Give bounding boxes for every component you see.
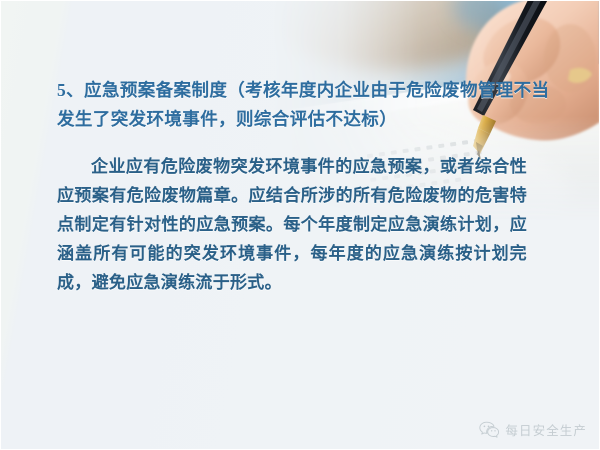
body-paragraph: 企业应有危险废物突发环境事件的应急预案，或者综合性应预案有危险废物篇章。应结合所… (57, 152, 527, 297)
slide-canvas: 5、应急预案备案制度（考核年度内企业由于危险废物管理不当发生了突发环境事件，则综… (0, 0, 600, 450)
wechat-icon (479, 421, 499, 438)
watermark-label: 每日安全生产 (505, 420, 587, 439)
watermark: 每日安全生产 (479, 420, 587, 439)
slide-text-layer: 5、应急预案备案制度（考核年度内企业由于危险废物管理不当发生了突发环境事件，则综… (0, 0, 600, 450)
page-title: 5、应急预案备案制度（考核年度内企业由于危险废物管理不当发生了突发环境事件，则综… (57, 76, 562, 134)
